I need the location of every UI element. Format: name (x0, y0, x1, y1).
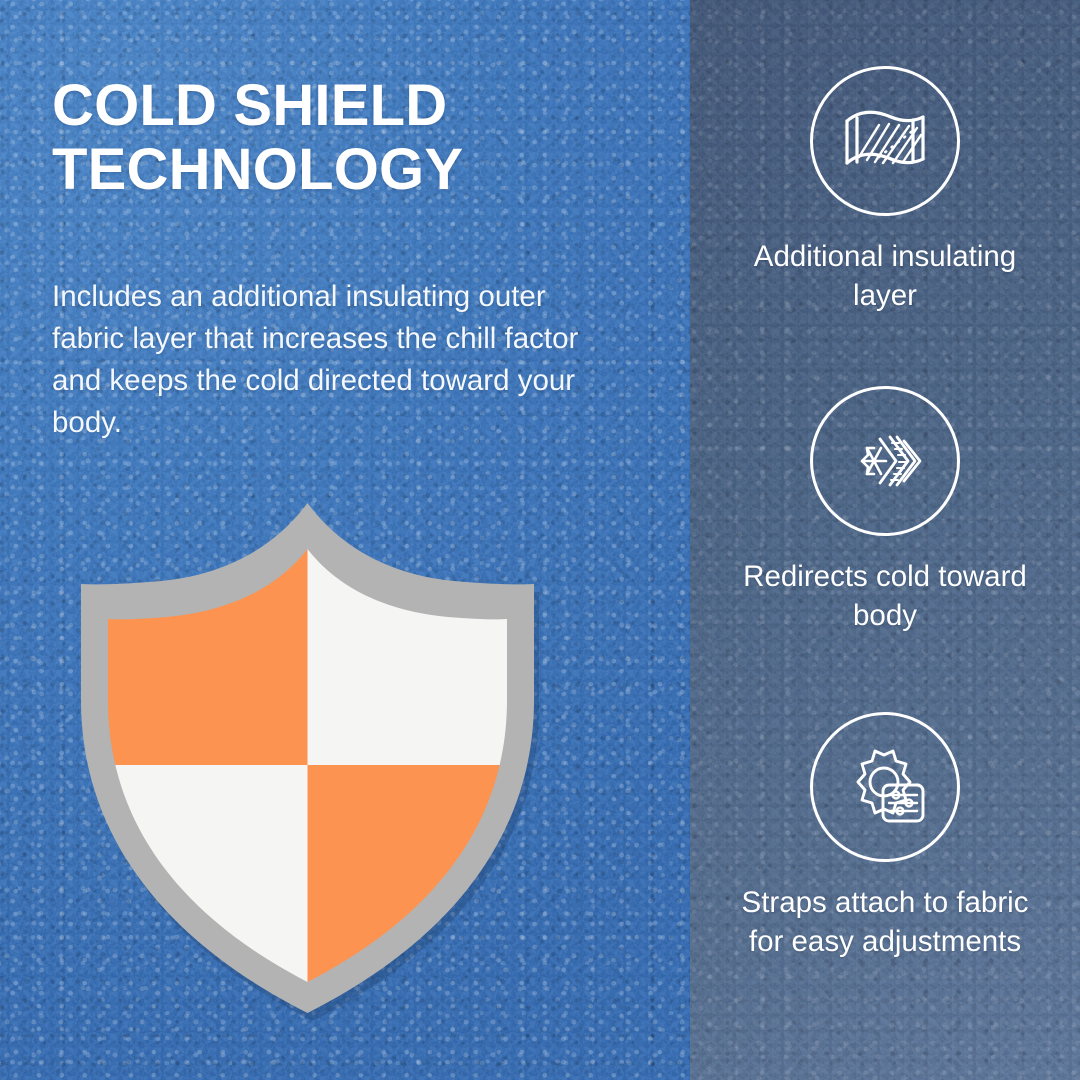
feature-label: Straps attach to fabric for easy adjustm… (735, 884, 1035, 962)
feature-list: Additional insulating layer (690, 0, 1080, 1080)
feature-label: Redirects cold toward body (735, 558, 1035, 636)
shield-graphic (75, 495, 540, 1020)
quadrant-top-right (308, 495, 541, 765)
feature-item-strap-adjustments: Straps attach to fabric for easy adjustm… (712, 712, 1058, 962)
shield-quadrants (75, 495, 540, 1020)
feature-item-redirects-cold: Redirects cold toward body (712, 386, 1058, 636)
right-panel: Additional insulating layer (690, 0, 1080, 1080)
snowflake-glyph (862, 448, 886, 474)
feature-label: Additional insulating layer (735, 238, 1035, 316)
product-feature-infographic: COLD SHIELD TECHNOLOGY Includes an addit… (0, 0, 1080, 1080)
left-panel: COLD SHIELD TECHNOLOGY Includes an addit… (0, 0, 690, 1080)
fabric-layer-icon (810, 66, 960, 216)
quadrant-top-left (75, 495, 308, 765)
feature-item-insulating-layer: Additional insulating layer (712, 66, 1058, 316)
gear-settings-icon (810, 712, 960, 862)
cold-redirect-icon (810, 386, 960, 536)
description-paragraph: Includes an additional insulating outer … (52, 276, 622, 444)
page-title: COLD SHIELD TECHNOLOGY (52, 74, 612, 202)
